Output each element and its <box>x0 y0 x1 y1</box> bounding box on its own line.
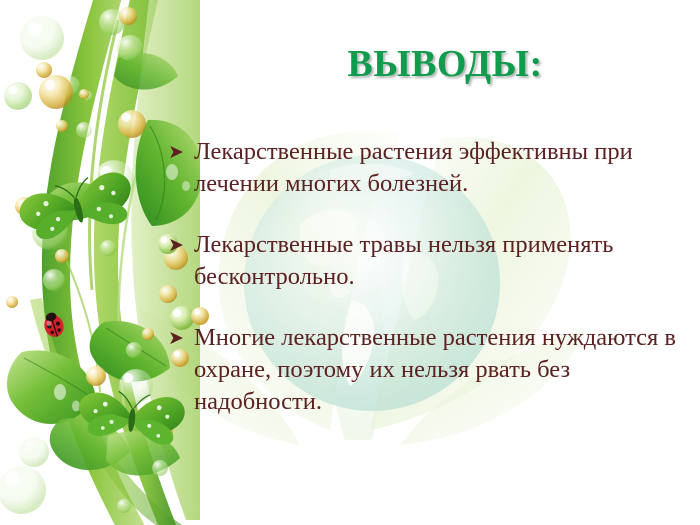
page-title: ВЫВОДЫ: <box>347 45 542 85</box>
list-item-text: Многие лекарственные растения нуждаются … <box>194 322 688 418</box>
slide-canvas: ВЫВОДЫ: ➤ Лекарственные растения эффекти… <box>0 0 700 525</box>
list-item-text: Лекарственные травы нельзя применять бес… <box>194 229 688 293</box>
conclusions-list: ➤ Лекарственные растения эффективны при … <box>168 136 688 418</box>
list-item-text: Лекарственные растения эффективны при ле… <box>194 136 688 200</box>
list-item: ➤ Лекарственные растения эффективны при … <box>168 136 688 200</box>
list-item: ➤ Лекарственные травы нельзя применять б… <box>168 229 688 293</box>
arrow-bullet-icon: ➤ <box>168 230 194 262</box>
title-container: ВЫВОДЫ: <box>200 45 690 85</box>
arrow-bullet-icon: ➤ <box>168 323 194 355</box>
list-item: ➤ Многие лекарственные растения нуждаютс… <box>168 322 688 418</box>
arrow-bullet-icon: ➤ <box>168 137 194 169</box>
